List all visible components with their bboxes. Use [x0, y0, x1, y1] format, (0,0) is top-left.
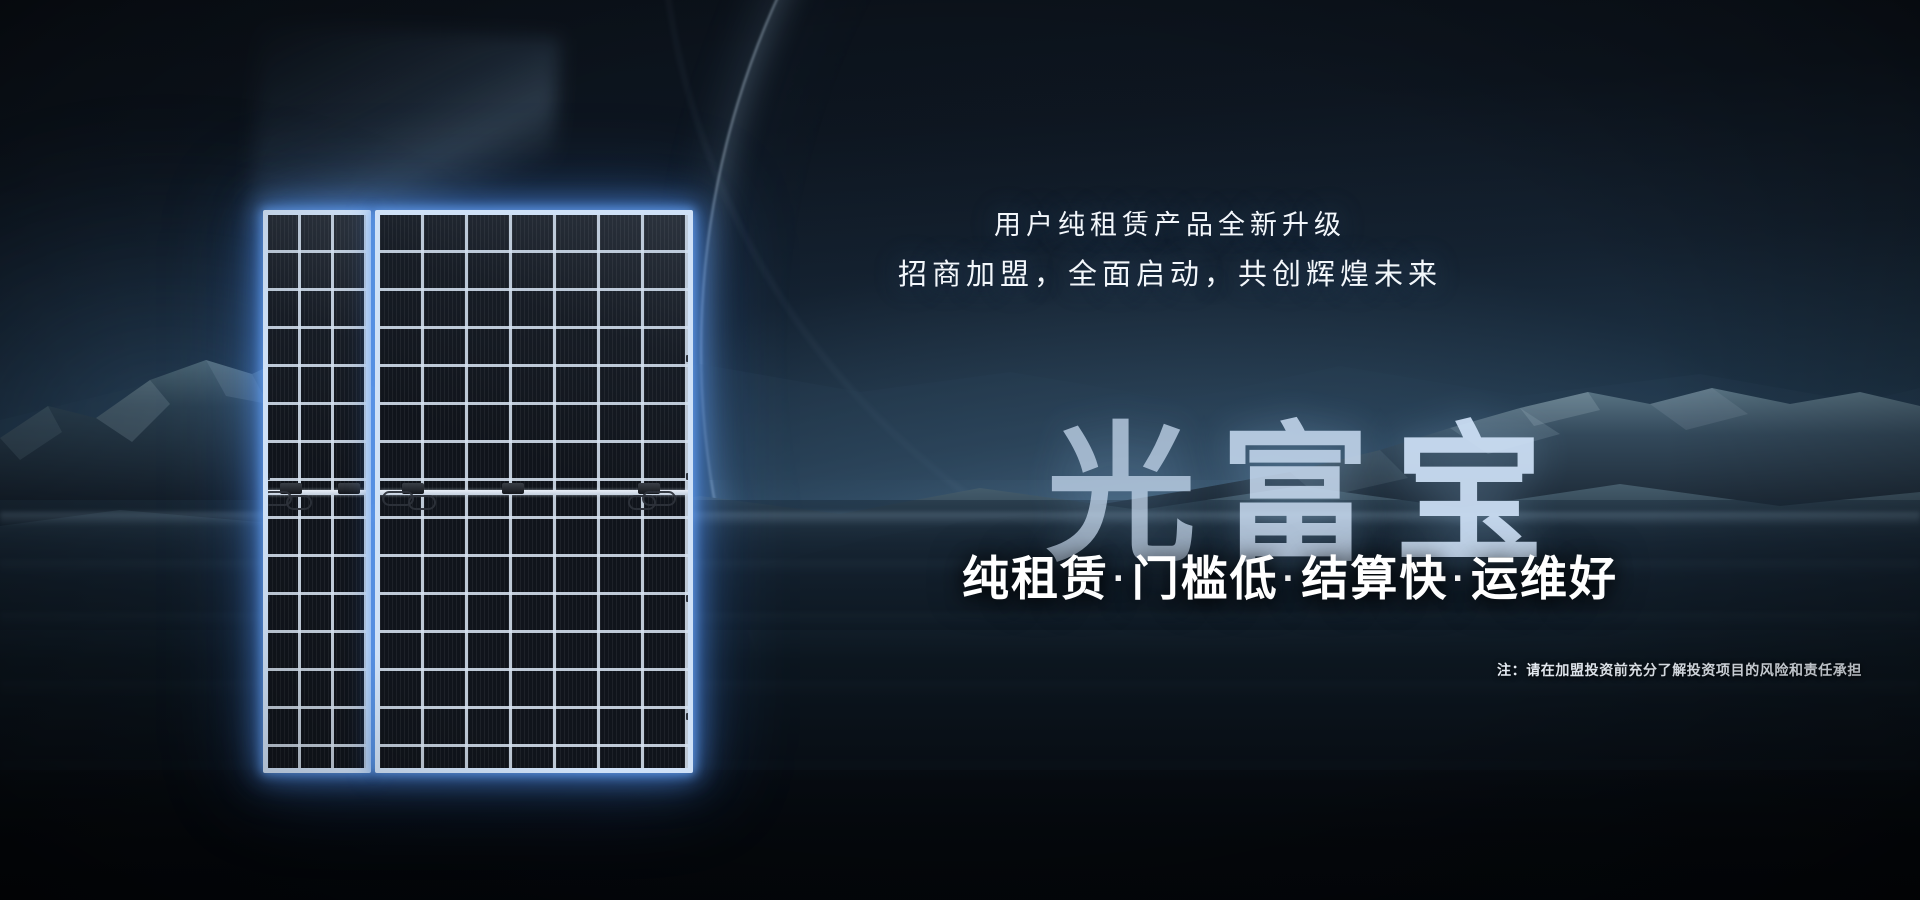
promo-banner: 用户纯租赁产品全新升级 招商加盟，全面启动，共创辉煌未来 光富宝 纯租赁·门槛低…: [0, 0, 1920, 900]
subheadline-block: 用户纯租赁产品全新升级 招商加盟，全面启动，共创辉煌未来: [760, 200, 1580, 300]
cable-loop-icon: [286, 495, 312, 510]
junction-box-icon: [338, 483, 360, 494]
junction-box-icon: [502, 483, 524, 494]
tagline-item-1: 纯租赁: [962, 552, 1109, 605]
solar-panel-half-right: [375, 210, 693, 773]
solar-panel-module: [263, 210, 697, 773]
light-streak: [250, 22, 560, 237]
frame-bolt-icon: [686, 355, 689, 362]
frame-bolt-icon: [686, 713, 689, 720]
tagline-separator: ·: [1448, 558, 1471, 600]
cable-loop-icon: [628, 495, 656, 510]
tagline-separator: ·: [1279, 558, 1302, 600]
subheadline-line-1: 用户纯租赁产品全新升级: [760, 200, 1580, 250]
frame-bolt-icon: [267, 595, 270, 602]
tagline-item-2: 门槛低: [1132, 552, 1279, 605]
frame-bolt-icon: [267, 713, 270, 720]
foreground-shadow: [0, 770, 1920, 900]
cable-loop-icon: [408, 495, 436, 510]
tagline-item-3: 结算快: [1301, 552, 1448, 605]
solar-panel-half-left: [263, 210, 371, 773]
frame-bolt-icon: [267, 355, 270, 362]
subheadline-line-2: 招商加盟，全面启动，共创辉煌未来: [760, 250, 1580, 300]
tagline-item-4: 运维好: [1471, 552, 1618, 605]
frame-bolt-icon: [267, 473, 270, 480]
tagline-separator: ·: [1109, 558, 1132, 600]
feature-tagline: 纯租赁·门槛低·结算快·运维好: [700, 540, 1880, 609]
frame-bolt-icon: [686, 595, 689, 602]
frame-bolt-icon: [686, 473, 689, 480]
risk-disclaimer: 注：请在加盟投资前充分了解投资项目的风险和责任承担: [1497, 660, 1862, 680]
